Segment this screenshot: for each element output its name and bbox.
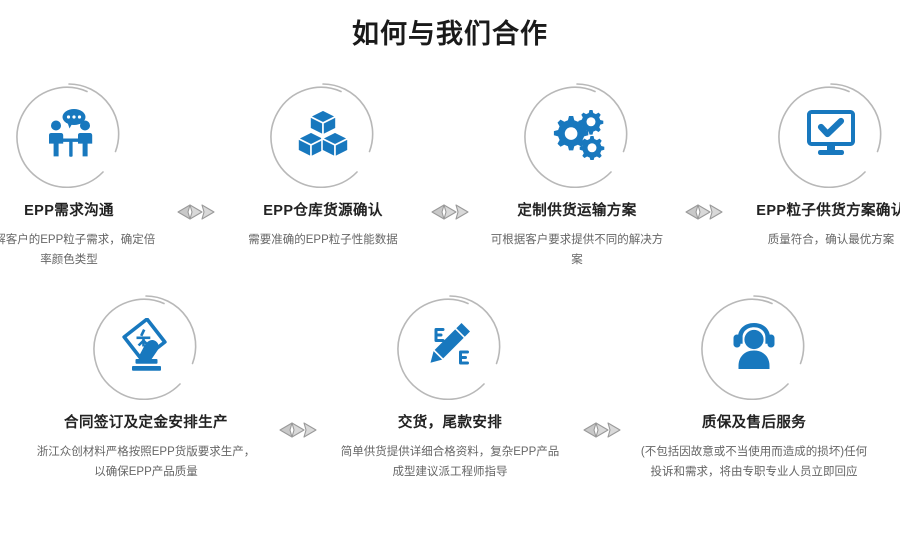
process-arrow-1 bbox=[169, 80, 223, 222]
pencil-signing-icon bbox=[421, 317, 479, 375]
process-row-2: 合同签订及定金安排生产 浙江众创材料严格按照EPP货版要求生产，以确保EPP产品… bbox=[0, 292, 900, 482]
step-title: EPP粒子供货方案确认 bbox=[756, 202, 900, 221]
process-step-7[interactable]: 质保及售后服务 (不包括因故意或不当使用而造成的损坏)任何投诉和需求，将由专职专… bbox=[629, 292, 879, 482]
process-arrow-4 bbox=[271, 292, 325, 440]
process-arrow-3 bbox=[677, 80, 731, 222]
double-chevron-right-icon bbox=[582, 420, 622, 440]
step-description: 浙江众创材料严格按照EPP货版要求生产，以确保EPP产品质量 bbox=[26, 442, 266, 482]
cooperation-process-page: 如何与我们合作 bbox=[0, 0, 900, 538]
step-description: 需要准确的EPP粒子性能数据 bbox=[242, 230, 404, 250]
step-title: 交货，尾款安排 bbox=[398, 414, 502, 433]
process-arrow-2 bbox=[423, 80, 477, 222]
process-step-2[interactable]: EPP仓库货源确认 需要准确的EPP粒子性能数据 bbox=[223, 80, 423, 250]
page-title: 如何与我们合作 bbox=[0, 0, 900, 50]
step-ring-3 bbox=[523, 80, 631, 188]
step-ring-4 bbox=[777, 80, 885, 188]
step-ring-1 bbox=[15, 80, 123, 188]
gears-icon bbox=[548, 105, 606, 163]
step-ring-7 bbox=[700, 292, 808, 400]
step-description: 可根据客户要求提供不同的解决方案 bbox=[482, 230, 672, 270]
monitor-check-icon bbox=[802, 105, 860, 163]
double-chevron-right-icon bbox=[684, 202, 724, 222]
step-description: 了解客户的EPP粒子需求，确定倍率颜色类型 bbox=[0, 230, 164, 270]
step-description: (不包括因故意或不当使用而造成的损坏)任何投诉和需求，将由专职专业人员立即回应 bbox=[634, 442, 874, 482]
double-chevron-right-icon bbox=[430, 202, 470, 222]
process-arrow-5 bbox=[575, 292, 629, 440]
process-step-6[interactable]: 交货，尾款安排 简单供货提供详细合格资料，复杂EPP产品成型建议派工程师指导 bbox=[325, 292, 575, 482]
headset-support-icon bbox=[725, 317, 783, 375]
stacked-boxes-icon bbox=[294, 105, 352, 163]
people-meeting-icon bbox=[40, 105, 98, 163]
step-title: 质保及售后服务 bbox=[702, 414, 806, 433]
step-ring-2 bbox=[269, 80, 377, 188]
step-title: EPP需求沟通 bbox=[24, 202, 114, 221]
double-chevron-right-icon bbox=[176, 202, 216, 222]
step-title: 定制供货运输方案 bbox=[517, 202, 636, 221]
step-description: 简单供货提供详细合格资料，复杂EPP产品成型建议派工程师指导 bbox=[330, 442, 570, 482]
step-title: EPP仓库货源确认 bbox=[263, 202, 383, 221]
double-chevron-right-icon bbox=[278, 420, 318, 440]
process-step-3[interactable]: 定制供货运输方案 可根据客户要求提供不同的解决方案 bbox=[477, 80, 677, 270]
process-step-1[interactable]: EPP需求沟通 了解客户的EPP粒子需求，确定倍率颜色类型 bbox=[0, 80, 169, 270]
step-ring-6 bbox=[396, 292, 504, 400]
process-row-1: EPP需求沟通 了解客户的EPP粒子需求，确定倍率颜色类型 bbox=[0, 80, 900, 270]
process-step-5[interactable]: 合同签订及定金安排生产 浙江众创材料严格按照EPP货版要求生产，以确保EPP产品… bbox=[21, 292, 271, 482]
contract-stamp-icon bbox=[117, 317, 175, 375]
step-ring-5 bbox=[92, 292, 200, 400]
step-title: 合同签订及定金安排生产 bbox=[64, 414, 228, 433]
process-step-4[interactable]: EPP粒子供货方案确认 质量符合，确认最优方案 bbox=[731, 80, 900, 250]
step-description: 质量符合，确认最优方案 bbox=[762, 230, 900, 250]
